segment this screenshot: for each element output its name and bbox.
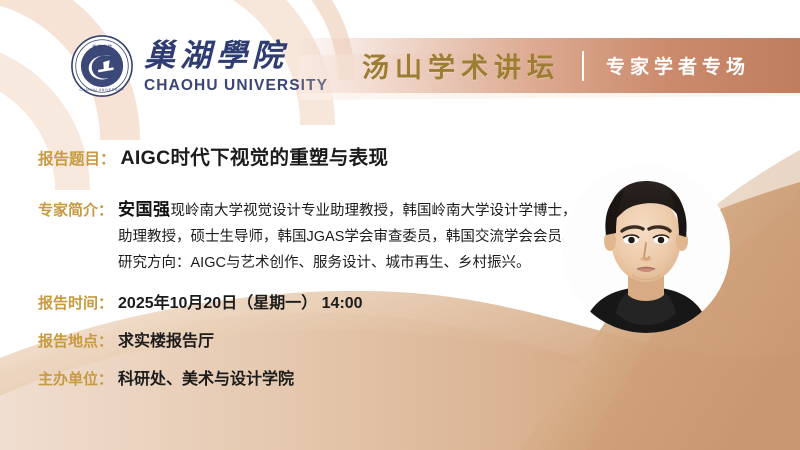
speaker-bio-label: 专家简介： <box>38 197 113 220</box>
organizer-label: 主办单位： <box>38 368 113 389</box>
report-place-value: 求实楼报告厅 <box>118 327 214 351</box>
poster-header: 巢 湖 学 院 CHAOHU UNIVERSITY 巢湖學院 CHAOHU UN… <box>0 0 800 120</box>
report-title-label: 报告题目： <box>38 147 116 169</box>
lecture-poster: 巢 湖 学 院 CHAOHU UNIVERSITY 巢湖學院 CHAOHU UN… <box>0 0 800 450</box>
organizer-row: 主办单位： 科研处、美术与设计学院 <box>38 365 294 389</box>
report-place-row: 报告地点： 求实楼报告厅 <box>38 327 214 351</box>
report-title-value: AIGC时代下视觉的重塑与表现 <box>121 141 389 170</box>
speaker-bio-body: 安国强现岭南大学视觉设计专业助理教授，韩国岭南大学设计学博士， 助理教授，硕士生… <box>118 197 577 276</box>
report-time-value: 2025年10月20日（星期一） 14:00 <box>118 289 363 313</box>
university-logo-block: 巢 湖 学 院 CHAOHU UNIVERSITY 巢湖學院 CHAOHU UN… <box>70 34 328 98</box>
forum-banner: 汤山学术讲坛 专家学者专场 <box>300 38 800 93</box>
speaker-bio-row: 专家简介： 安国强现岭南大学视觉设计专业助理教授，韩国岭南大学设计学博士， 助理… <box>38 197 577 276</box>
report-place-label: 报告地点： <box>38 330 113 351</box>
bio-line-2: 助理教授，硕士生导师，韩国JGAS学会审查委员，韩国交流学会会员。 <box>118 224 577 250</box>
forum-title: 汤山学术讲坛 <box>362 46 560 85</box>
report-title-row: 报告题目： AIGC时代下视觉的重塑与表现 <box>38 141 388 170</box>
bio-line-1-rest: 现岭南大学视觉设计专业助理教授，韩国岭南大学设计学博士， <box>171 203 577 219</box>
speaker-name: 安国强 <box>118 200 171 219</box>
forum-subtitle: 专家学者专场 <box>606 52 750 79</box>
banner-divider <box>582 51 584 81</box>
bio-line-3: 研究方向：AIGC与艺术创作、服务设计、城市再生、乡村振兴。 <box>118 250 577 276</box>
organizer-value: 科研处、美术与设计学院 <box>118 365 294 389</box>
report-time-row: 报告时间： 2025年10月20日（星期一） 14:00 <box>38 289 363 313</box>
speaker-portrait <box>560 163 732 335</box>
bio-line-1: 安国强现岭南大学视觉设计专业助理教授，韩国岭南大学设计学博士， <box>118 197 577 224</box>
chaohu-university-emblem-icon: 巢 湖 学 院 CHAOHU UNIVERSITY <box>70 34 134 98</box>
svg-text:CHAOHU UNIVERSITY: CHAOHU UNIVERSITY <box>80 88 125 92</box>
svg-text:巢 湖 学 院: 巢 湖 学 院 <box>92 43 112 49</box>
report-time-label: 报告时间： <box>38 292 113 313</box>
